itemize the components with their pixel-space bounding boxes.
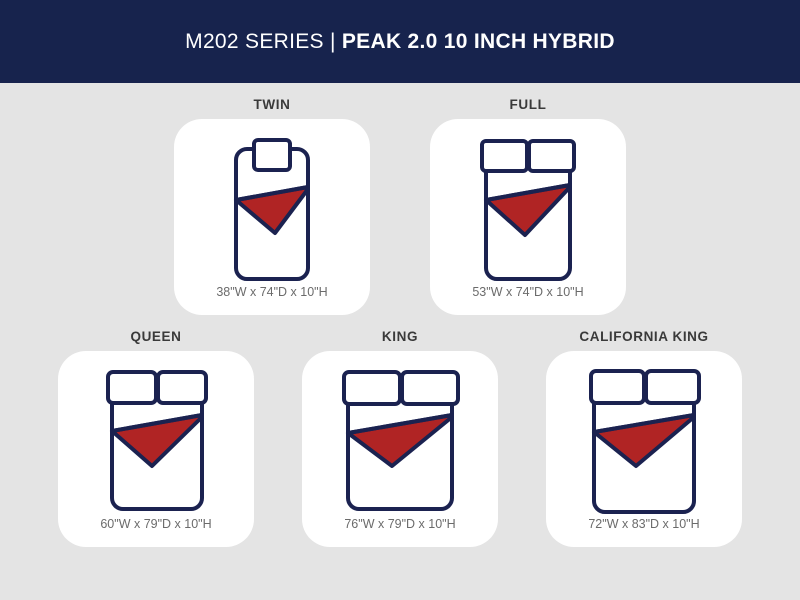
- page-header: M202 SERIES | PEAK 2.0 10 INCH HYBRID: [0, 0, 800, 83]
- size-row-top: TWIN 38"W x 74"D x 10"H FULL: [0, 97, 800, 315]
- size-label-king: KING: [382, 329, 418, 344]
- size-row-bottom: QUEEN 60"W x 79"D x 10"H KING: [0, 329, 800, 547]
- model-label: PEAK 2.0 10 INCH HYBRID: [342, 30, 615, 53]
- size-block-king: KING 76"W x 79"D x 10"H: [302, 329, 498, 547]
- size-label-queen: QUEEN: [130, 329, 181, 344]
- size-block-california-king: CALIFORNIA KING 72"W x 83"D x 10"H: [546, 329, 742, 547]
- dimensions-king: 76"W x 79"D x 10"H: [344, 517, 455, 537]
- size-block-twin: TWIN 38"W x 74"D x 10"H: [174, 97, 370, 315]
- size-card-queen[interactable]: 60"W x 79"D x 10"H: [58, 351, 254, 547]
- size-label-full: FULL: [510, 97, 547, 112]
- bed-illustration-california-king: [546, 367, 742, 517]
- size-card-full[interactable]: 53"W x 74"D x 10"H: [430, 119, 626, 315]
- size-block-full: FULL 53"W x 74"D x 10"H: [430, 97, 626, 315]
- bed-full-icon: [467, 137, 589, 285]
- page-title: M202 SERIES | PEAK 2.0 10 INCH HYBRID: [185, 30, 615, 54]
- dimensions-full: 53"W x 74"D x 10"H: [472, 285, 583, 305]
- dimensions-twin: 38"W x 74"D x 10"H: [216, 285, 327, 305]
- size-card-twin[interactable]: 38"W x 74"D x 10"H: [174, 119, 370, 315]
- size-label-twin: TWIN: [254, 97, 291, 112]
- series-label: M202 SERIES |: [185, 30, 342, 53]
- size-card-california-king[interactable]: 72"W x 83"D x 10"H: [546, 351, 742, 547]
- bed-illustration-twin: [174, 137, 370, 285]
- size-chart: TWIN 38"W x 74"D x 10"H FULL: [0, 83, 800, 600]
- bed-illustration-full: [430, 137, 626, 285]
- dimensions-queen: 60"W x 79"D x 10"H: [100, 517, 211, 537]
- bed-king-icon: [330, 369, 470, 515]
- bed-twin-icon: [220, 137, 324, 285]
- size-card-king[interactable]: 76"W x 79"D x 10"H: [302, 351, 498, 547]
- size-block-queen: QUEEN 60"W x 79"D x 10"H: [58, 329, 254, 547]
- dimensions-california-king: 72"W x 83"D x 10"H: [588, 517, 699, 537]
- size-label-california-king: CALIFORNIA KING: [579, 329, 708, 344]
- bed-illustration-king: [302, 367, 498, 517]
- bed-california-king-icon: [576, 368, 712, 516]
- bed-illustration-queen: [58, 367, 254, 517]
- bed-queen-icon: [92, 369, 220, 515]
